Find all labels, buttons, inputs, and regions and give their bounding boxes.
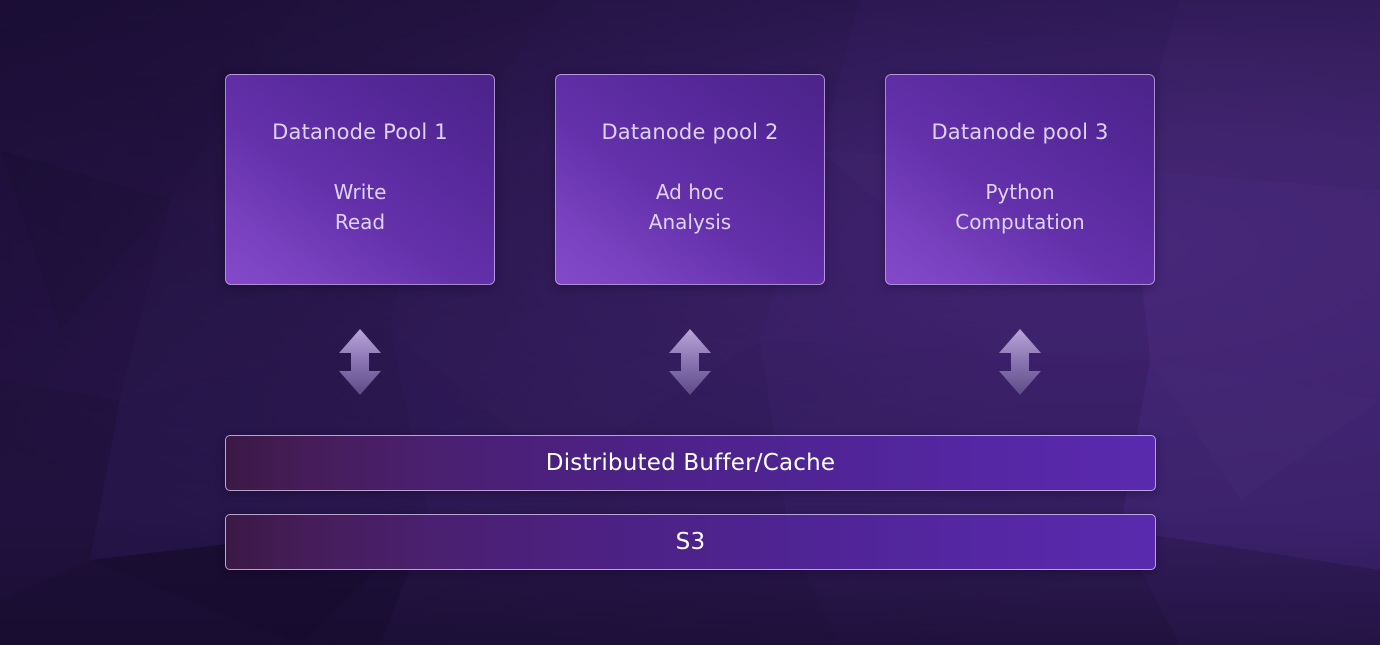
pool-line-1: Ad hoc	[649, 177, 731, 207]
pool-line-1: Python	[955, 177, 1084, 207]
layer-bar-distributed-buffer-cache[interactable]: Distributed Buffer/Cache	[225, 435, 1156, 491]
pool-title: Datanode pool 2	[601, 120, 778, 145]
layer-label: Distributed Buffer/Cache	[546, 450, 835, 476]
pool-box-1[interactable]: Datanode Pool 1 Write Read	[225, 74, 495, 285]
diagram-canvas: Datanode Pool 1 Write Read Datanode pool…	[0, 0, 1380, 645]
pool-box-3[interactable]: Datanode pool 3 Python Computation	[885, 74, 1155, 285]
pool-line-2: Analysis	[649, 207, 731, 237]
pool-title: Datanode Pool 1	[272, 120, 448, 145]
double-arrow-vertical-icon	[667, 328, 713, 396]
layer-label: S3	[676, 529, 706, 555]
pool-description: Write Read	[334, 177, 387, 237]
pool-box-2[interactable]: Datanode pool 2 Ad hoc Analysis	[555, 74, 825, 285]
layer-bar-s3[interactable]: S3	[225, 514, 1156, 570]
pool-line-1: Write	[334, 177, 387, 207]
double-arrow-vertical-icon	[997, 328, 1043, 396]
pool-title: Datanode pool 3	[931, 120, 1108, 145]
pool-line-2: Read	[334, 207, 387, 237]
double-arrow-vertical-icon	[337, 328, 383, 396]
pool-description: Python Computation	[955, 177, 1084, 237]
pool-line-2: Computation	[955, 207, 1084, 237]
pool-description: Ad hoc Analysis	[649, 177, 731, 237]
